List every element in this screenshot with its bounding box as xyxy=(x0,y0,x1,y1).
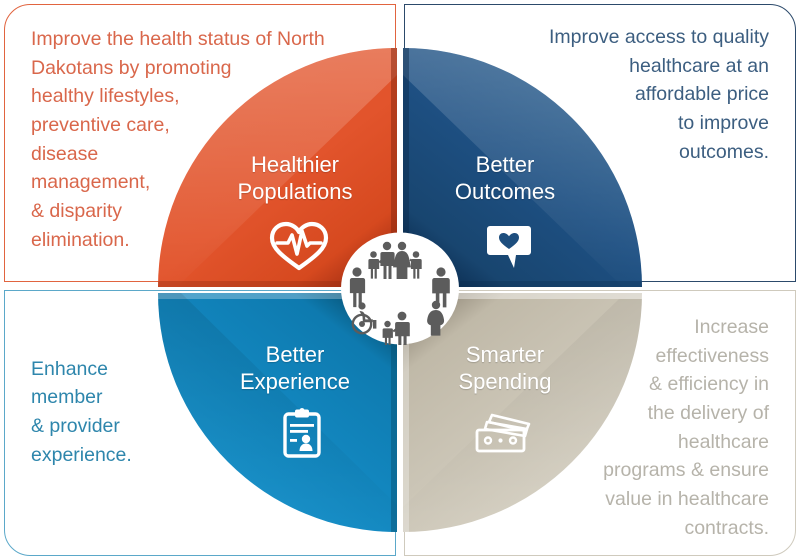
label-smarter-spending: Smarter Spending xyxy=(410,342,600,396)
banknotes-icon xyxy=(472,412,534,464)
clipboard-person-icon xyxy=(278,407,340,459)
center-hub-people-circle xyxy=(340,232,460,345)
better-experience-description: Enhance member & provider experience. xyxy=(5,355,132,492)
heart-pulse-icon xyxy=(268,220,330,272)
label-better-outcomes: Better Outcomes xyxy=(410,152,600,206)
label-healthier-populations: Healthier Populations xyxy=(200,152,390,206)
panel-better-outcomes: Improve access to quality healthcare at … xyxy=(404,4,796,282)
smarter-spending-description: Increase effectiveness & efficiency in t… xyxy=(603,291,795,542)
label-better-experience: Better Experience xyxy=(200,342,390,396)
better-outcomes-description: Improve access to quality healthcare at … xyxy=(549,5,795,166)
healthier-populations-description: Improve the health status of North Dakot… xyxy=(5,5,325,254)
speech-bubble-heart-icon xyxy=(478,220,540,272)
panel-healthier-populations: Improve the health status of North Dakot… xyxy=(4,4,396,282)
panel-smarter-spending: Increase effectiveness & efficiency in t… xyxy=(404,290,796,556)
diagram-canvas: Improve the health status of North Dakot… xyxy=(0,0,800,560)
